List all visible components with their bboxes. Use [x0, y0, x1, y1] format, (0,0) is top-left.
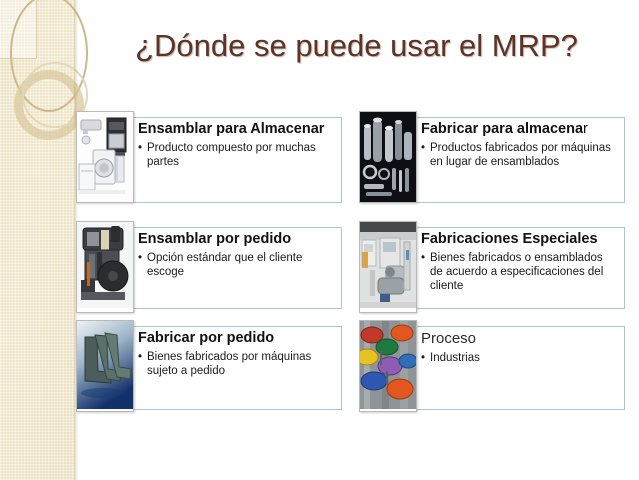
card-text: Ensamblar para Almacenar • Producto comp…	[138, 121, 334, 169]
page-title: ¿Dónde se puede usar el MRP?	[74, 28, 639, 64]
card-bullet: • Bienes fabricados o ensamblados de acu…	[421, 251, 617, 293]
rubber-boots-photo	[76, 320, 134, 412]
factory-machinery-photo	[359, 221, 417, 313]
card-bullet: • Industrias	[421, 351, 617, 365]
slide: ¿Dónde se puede usar el MRP?	[0, 0, 639, 480]
card-heading: Ensamblar por pedido	[138, 231, 334, 248]
card-ensamblar-para-almacenar: Ensamblar para Almacenar • Producto comp…	[76, 111, 342, 203]
card-text: Proceso • Industrias	[421, 330, 617, 365]
decorative-side-band	[0, 0, 74, 480]
card-heading: Ensamblar para Almacenar	[138, 121, 334, 138]
card-bullet-text: Opción estándar que el cliente escoge	[147, 251, 334, 279]
card-ensamblar-por-pedido: Ensamblar por pedido • Opción estándar q…	[76, 221, 342, 309]
home-appliances-photo	[76, 111, 134, 203]
metal-pipes-photo	[359, 111, 417, 203]
card-bullet-text: Bienes fabricados o ensamblados de acuer…	[430, 251, 617, 293]
card-fabricaciones-especiales: Fabricaciones Especiales • Bienes fabric…	[359, 221, 625, 309]
card-fabricar-por-pedido: Fabricar por pedido • Bienes fabricados …	[76, 320, 342, 410]
card-fabricar-para-almacenar: Fabricar para almacenar • Productos fabr…	[359, 111, 625, 203]
card-bullet: • Bienes fabricados por máquinas sujeto …	[138, 350, 334, 378]
card-heading: Fabricaciones Especiales	[421, 231, 617, 248]
paint-cans-photo	[359, 320, 417, 412]
bullet-dot-icon: •	[138, 141, 147, 169]
card-heading: Fabricar por pedido	[138, 330, 334, 347]
card-bullet-text: Industrias	[430, 351, 617, 365]
card-text: Ensamblar por pedido • Opción estándar q…	[138, 231, 334, 279]
card-heading: Proceso	[421, 330, 617, 348]
card-text: Fabricar para almacenar • Productos fabr…	[421, 121, 617, 169]
card-text: Fabricaciones Especiales • Bienes fabric…	[421, 231, 617, 293]
diesel-engine-photo	[76, 221, 134, 313]
card-bullet: • Producto compuesto por muchas partes	[138, 141, 334, 169]
card-proceso: Proceso • Industrias	[359, 320, 625, 410]
card-bullet-text: Producto compuesto por muchas partes	[147, 141, 334, 169]
card-bullet: • Opción estándar que el cliente escoge	[138, 251, 334, 279]
card-heading-main: Fabricar para almacena	[421, 121, 583, 137]
bullet-dot-icon: •	[421, 141, 430, 169]
card-heading-tail: r	[583, 121, 588, 137]
card-bullet-text: Bienes fabricados por máquinas sujeto a …	[147, 350, 334, 378]
card-bullet-text: Productos fabricados por máquinas en lug…	[430, 141, 617, 169]
bullet-dot-icon: •	[421, 251, 430, 293]
bullet-dot-icon: •	[421, 351, 430, 365]
card-bullet: • Productos fabricados por máquinas en l…	[421, 141, 617, 169]
bullet-dot-icon: •	[138, 251, 147, 279]
bullet-dot-icon: •	[138, 350, 147, 378]
card-heading: Fabricar para almacenar	[421, 121, 617, 138]
card-text: Fabricar por pedido • Bienes fabricados …	[138, 330, 334, 378]
